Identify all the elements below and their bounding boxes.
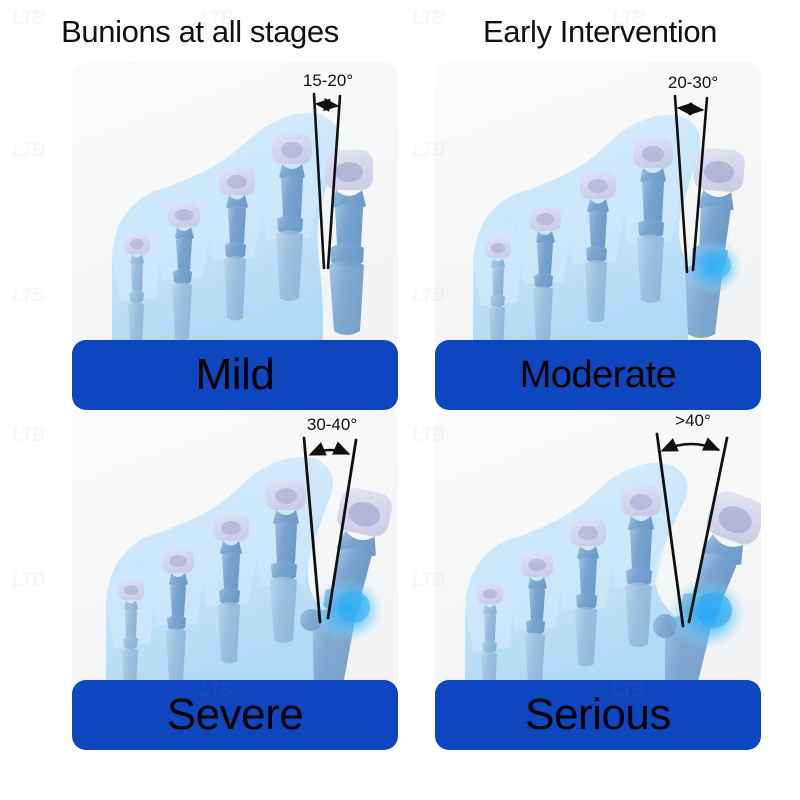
xray-card-serious: >40°	[435, 402, 761, 694]
severity-banner-severe[interactable]: Severe	[72, 680, 398, 750]
severity-label-serious: Serious	[525, 693, 671, 737]
angle-label-serious: >40°	[675, 411, 711, 430]
xray-card-severe: 30-40°	[72, 402, 398, 694]
xray-illustration-severe: 30-40°	[72, 402, 398, 694]
panel-severe: 30-40° Severe	[0, 400, 400, 800]
xray-illustration-serious: >40°	[435, 402, 761, 694]
angle-label-moderate: 20-30°	[668, 73, 718, 92]
angle-label-mild: 15-20°	[303, 71, 353, 90]
heading-left: Bunions at all stages	[0, 14, 400, 50]
severity-label-moderate: Moderate	[520, 356, 677, 394]
severity-label-mild: Mild	[196, 353, 275, 397]
heading-right: Early Intervention	[400, 14, 800, 50]
panel-serious: >40° Serious	[400, 400, 800, 800]
severity-label-severe: Severe	[167, 693, 303, 737]
panel-mild: Bunions at all stages	[0, 0, 400, 400]
xray-illustration-moderate: 20-30°	[435, 62, 761, 354]
bunion-bump-severe	[312, 577, 384, 643]
panel-moderate: Early Intervention	[400, 0, 800, 400]
angle-label-severe: 30-40°	[307, 415, 357, 434]
xray-illustration-mild: 15-20°	[72, 62, 398, 354]
severity-banner-moderate[interactable]: Moderate	[435, 340, 761, 410]
infographic-page: LTB LTB LTB LTB LTB LTB LTB LTB LTB LTB …	[0, 0, 800, 800]
xray-card-mild: 15-20°	[72, 62, 398, 354]
severity-banner-mild[interactable]: Mild	[72, 340, 398, 410]
xray-card-moderate: 20-30°	[435, 62, 761, 354]
severity-banner-serious[interactable]: Serious	[435, 680, 761, 750]
